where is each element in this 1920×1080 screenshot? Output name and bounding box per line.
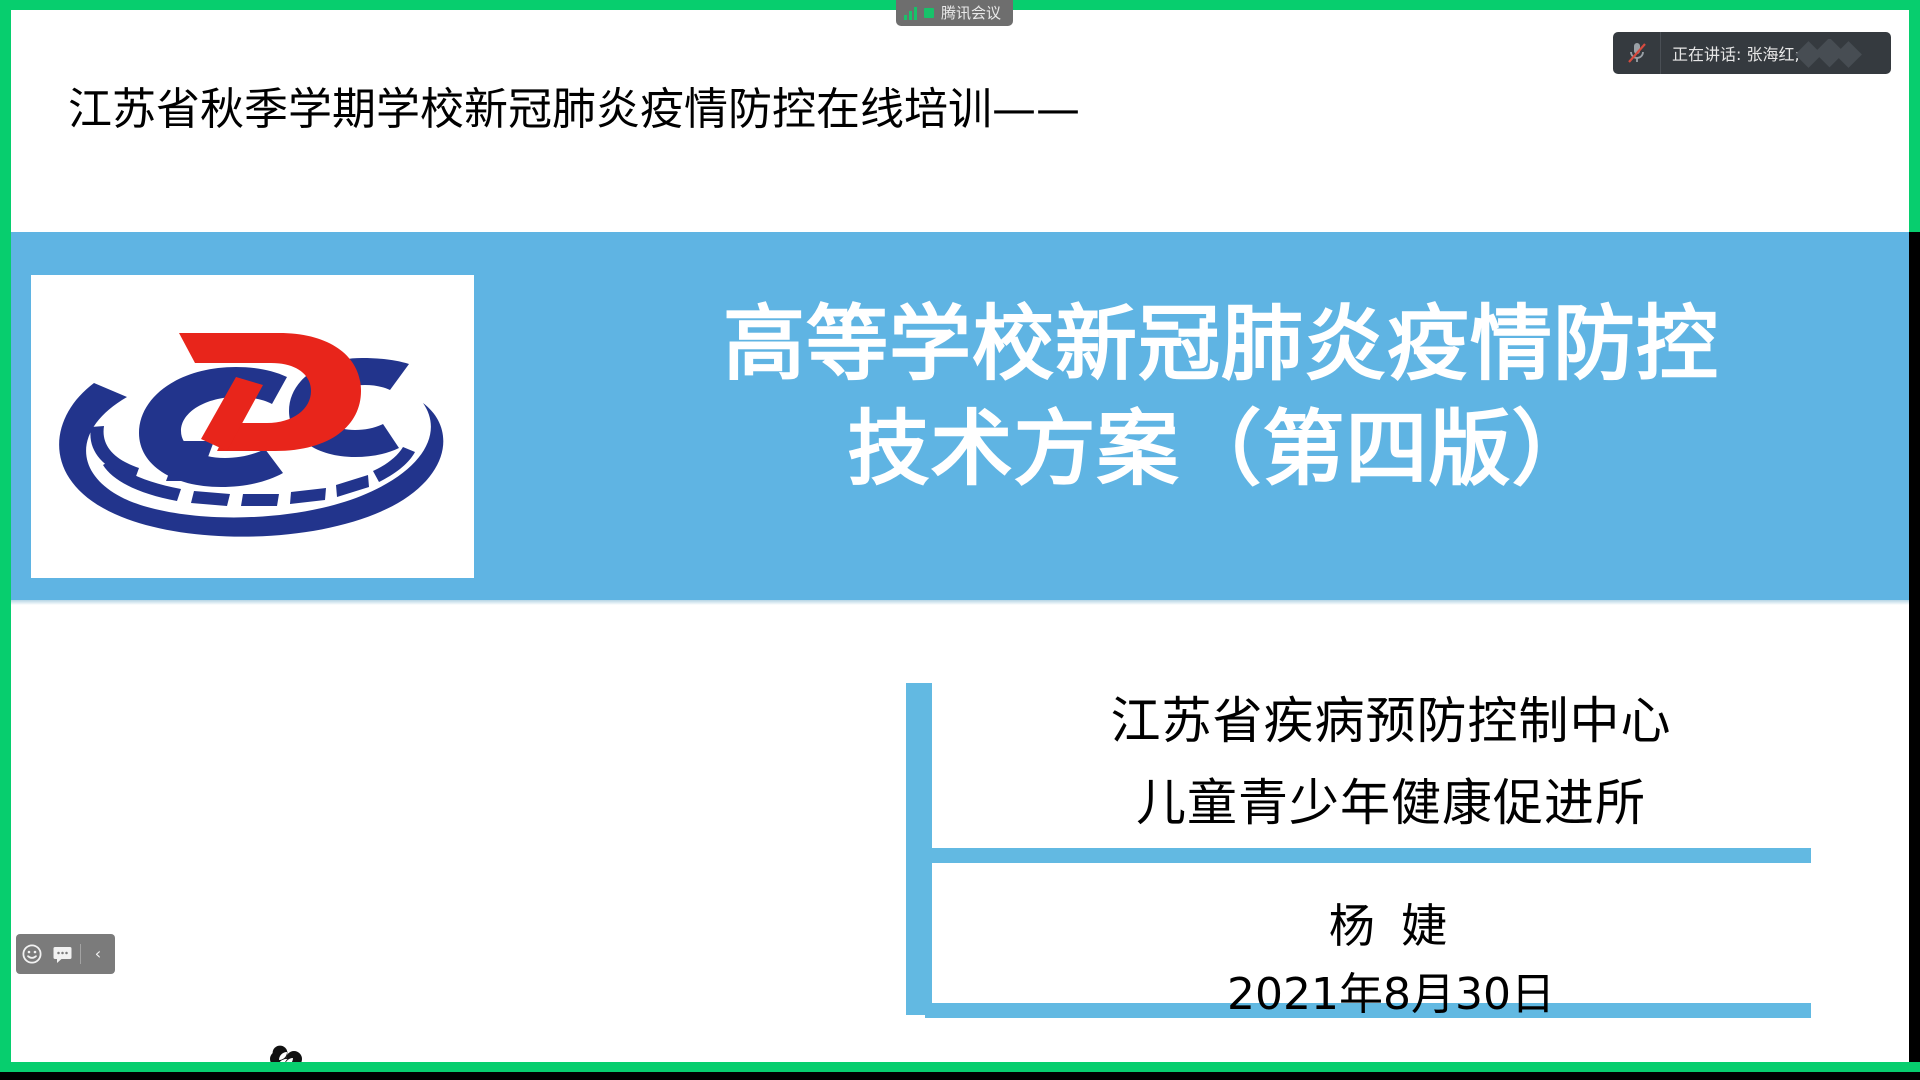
title-banner-shadow <box>11 600 1909 605</box>
toolbar-divider <box>80 944 81 964</box>
organization-line-2: 儿童青少年健康促进所 <box>951 778 1831 828</box>
presenter-name: 杨 婕 <box>951 890 1831 956</box>
pinwheel-logo-icon <box>269 1042 303 1062</box>
window-edge-right <box>1909 232 1920 1080</box>
signal-bars-icon <box>904 7 917 20</box>
footer-rule-horizontal-top <box>925 848 1811 863</box>
screen-share-border-bottom <box>0 1062 1920 1072</box>
tencent-meeting-status-pill[interactable]: 腾讯会议 <box>896 0 1013 26</box>
chat-message-icon[interactable] <box>47 934 78 974</box>
jiangsu-cdc-logo <box>31 275 474 578</box>
app-name-label: 腾讯会议 <box>941 6 1001 21</box>
screen-share-border-left <box>0 0 11 1072</box>
slide-title-line1: 高等学校新冠肺炎疫情防控 <box>723 297 1719 392</box>
active-speaker-bar[interactable]: 正在讲话: 张海红; <box>1613 32 1891 74</box>
window-edge-bottom <box>0 1072 1920 1080</box>
organization-line-1: 江苏省疾病预防控制中心 <box>951 696 1831 746</box>
collapse-toolbar-chevron-icon[interactable]: ‹ <box>83 934 113 974</box>
slide-title: 高等学校新冠肺炎疫情防控 技术方案（第四版） <box>631 293 1811 503</box>
screen-share-border-right <box>1909 0 1920 232</box>
slide-date: 2021年8月30日 <box>951 958 1831 1022</box>
watermark-diamonds-icon <box>1793 39 1881 69</box>
recording-indicator-icon <box>924 8 934 18</box>
reaction-toolbar[interactable]: ‹ <box>16 934 115 974</box>
microphone-muted-icon[interactable] <box>1613 32 1661 74</box>
active-speaker-label: 正在讲话: 张海红; <box>1661 41 1800 65</box>
slide-header-text: 江苏省秋季学期学校新冠肺炎疫情防控在线培训—— <box>68 88 1080 132</box>
slide-title-line2: 技术方案（第四版） <box>631 398 1811 503</box>
emoji-reaction-icon[interactable] <box>16 934 47 974</box>
tencent-meeting-shared-screen: 江苏省秋季学期学校新冠肺炎疫情防控在线培训—— <box>0 0 1920 1080</box>
footer-organization: 江苏省疾病预防控制中心 儿童青少年健康促进所 <box>951 696 1831 828</box>
presentation-slide: 江苏省秋季学期学校新冠肺炎疫情防控在线培训—— <box>11 10 1909 1062</box>
